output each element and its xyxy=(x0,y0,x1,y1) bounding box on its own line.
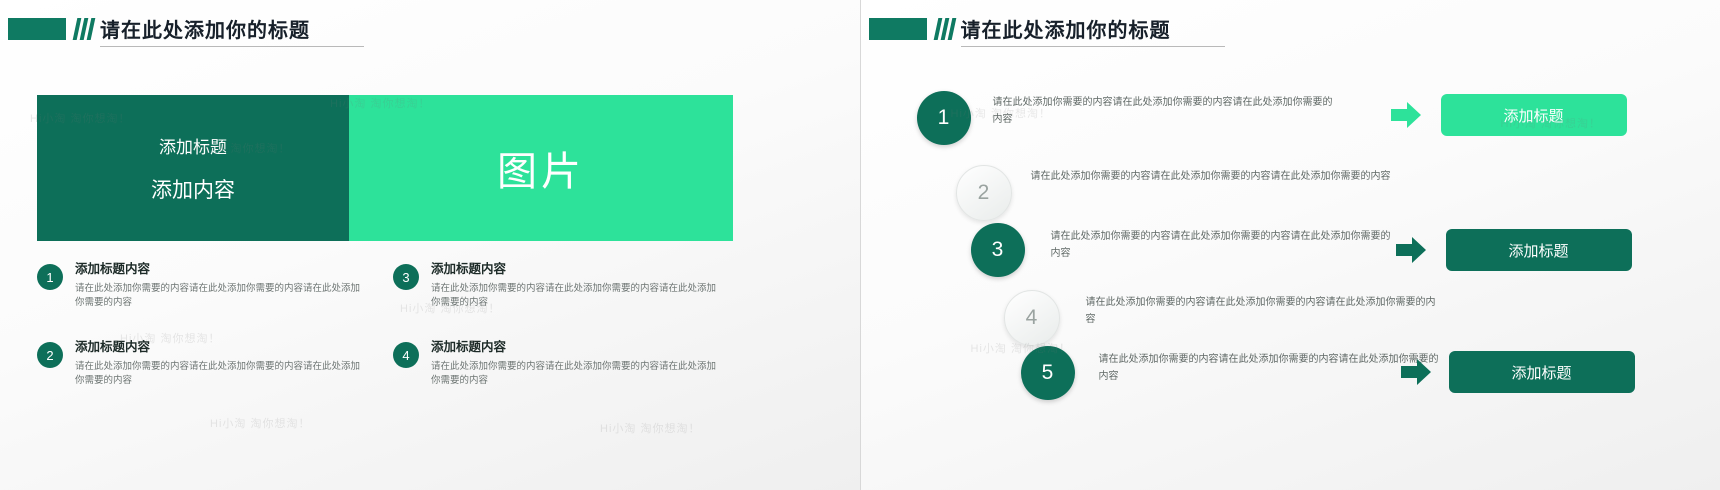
item-body: 请在此处添加你需要的内容请在此处添加你需要的内容请在此处添加你需要的内容 xyxy=(75,360,361,389)
header-accent-block xyxy=(869,18,927,40)
step-number-badge: 5 xyxy=(1021,346,1075,400)
step-number-badge: 1 xyxy=(917,91,971,145)
list-item: 4 添加标题内容 请在此处添加你需要的内容请在此处添加你需要的内容请在此处添加你… xyxy=(393,336,749,402)
slide-right: 请在此处添加你的标题 1 请在此处添加你需要的内容请在此处添加你需要的内容请在此… xyxy=(860,0,1720,490)
item-number-badge: 3 xyxy=(393,264,419,290)
item-title: 添加标题内容 xyxy=(75,336,361,355)
banner: 添加标题 添加内容 图片 xyxy=(37,95,733,241)
item-body: 请在此处添加你需要的内容请在此处添加你需要的内容请在此处添加你需要的内容 xyxy=(431,360,717,389)
watermark: Hi小淘 淘你想淘！ xyxy=(600,420,700,436)
step-text: 请在此处添加你需要的内容请在此处添加你需要的内容请在此处添加你需要的内容 xyxy=(1086,294,1436,328)
item-text-block: 添加标题内容 请在此处添加你需要的内容请在此处添加你需要的内容请在此处添加你需要… xyxy=(431,336,717,389)
item-body: 请在此处添加你需要的内容请在此处添加你需要的内容请在此处添加你需要的内容 xyxy=(75,282,361,311)
slide-left: 请在此处添加你的标题 添加标题 添加内容 图片 1 添加标题内容 请在此处添加你… xyxy=(0,0,860,490)
step-number-badge: 3 xyxy=(971,223,1025,277)
slide-left-header: 请在此处添加你的标题 xyxy=(0,10,860,52)
list-item: 1 添加标题内容 请在此处添加你需要的内容请在此处添加你需要的内容请在此处添加你… xyxy=(37,258,393,324)
list-item: 3 添加标题内容 请在此处添加你需要的内容请在此处添加你需要的内容请在此处添加你… xyxy=(393,258,749,324)
image-placeholder-label: 图片 xyxy=(497,139,585,197)
item-number-badge: 2 xyxy=(37,342,63,368)
page-title: 请在此处添加你的标题 xyxy=(100,14,310,43)
left-items-grid: 1 添加标题内容 请在此处添加你需要的内容请在此处添加你需要的内容请在此处添加你… xyxy=(37,258,749,402)
item-text-block: 添加标题内容 请在此处添加你需要的内容请在此处添加你需要的内容请在此处添加你需要… xyxy=(75,258,361,311)
arrow-right-icon xyxy=(1401,359,1431,385)
slide-deck: 请在此处添加你的标题 添加标题 添加内容 图片 1 添加标题内容 请在此处添加你… xyxy=(0,0,1720,490)
arrow-right-icon xyxy=(1396,237,1426,263)
item-text-block: 添加标题内容 请在此处添加你需要的内容请在此处添加你需要的内容请在此处添加你需要… xyxy=(75,336,361,389)
banner-text-panel: 添加标题 添加内容 xyxy=(37,95,349,241)
watermark: Hi小淘 淘你想淘！ xyxy=(210,415,310,431)
slide-right-header: 请在此处添加你的标题 xyxy=(861,10,1720,52)
item-title: 添加标题内容 xyxy=(431,258,717,277)
action-button[interactable]: 添加标题 xyxy=(1446,229,1632,271)
list-item: 2 添加标题内容 请在此处添加你需要的内容请在此处添加你需要的内容请在此处添加你… xyxy=(37,336,393,402)
banner-title: 添加标题 xyxy=(159,133,227,158)
item-title: 添加标题内容 xyxy=(75,258,361,277)
step-number-badge: 4 xyxy=(1004,290,1060,346)
step-text: 请在此处添加你需要的内容请在此处添加你需要的内容请在此处添加你需要的内容 xyxy=(1051,228,1396,262)
item-text-block: 添加标题内容 请在此处添加你需要的内容请在此处添加你需要的内容请在此处添加你需要… xyxy=(431,258,717,311)
action-button[interactable]: 添加标题 xyxy=(1449,351,1635,393)
banner-image-placeholder: 图片 xyxy=(349,95,733,241)
header-tick-marks-icon xyxy=(936,18,954,40)
action-button[interactable]: 添加标题 xyxy=(1441,94,1627,136)
item-body: 请在此处添加你需要的内容请在此处添加你需要的内容请在此处添加你需要的内容 xyxy=(431,282,717,311)
page-title: 请在此处添加你的标题 xyxy=(961,14,1171,43)
step-text: 请在此处添加你需要的内容请在此处添加你需要的内容请在此处添加你需要的内容 xyxy=(1099,351,1439,385)
item-title: 添加标题内容 xyxy=(431,336,717,355)
step-text: 请在此处添加你需要的内容请在此处添加你需要的内容请在此处添加你需要的内容 xyxy=(1031,168,1406,185)
header-underline xyxy=(100,46,364,47)
banner-subtitle: 添加内容 xyxy=(151,174,235,204)
header-tick-marks-icon xyxy=(75,18,93,40)
right-rows: 1 请在此处添加你需要的内容请在此处添加你需要的内容请在此处添加你需要的内容 添… xyxy=(861,78,1720,478)
item-number-badge: 4 xyxy=(393,342,419,368)
step-number-badge: 2 xyxy=(956,165,1012,221)
arrow-right-icon xyxy=(1391,102,1421,128)
item-number-badge: 1 xyxy=(37,264,63,290)
step-text: 请在此处添加你需要的内容请在此处添加你需要的内容请在此处添加你需要的内容 xyxy=(993,94,1333,128)
header-accent-block xyxy=(8,18,66,40)
header-underline xyxy=(961,46,1225,47)
